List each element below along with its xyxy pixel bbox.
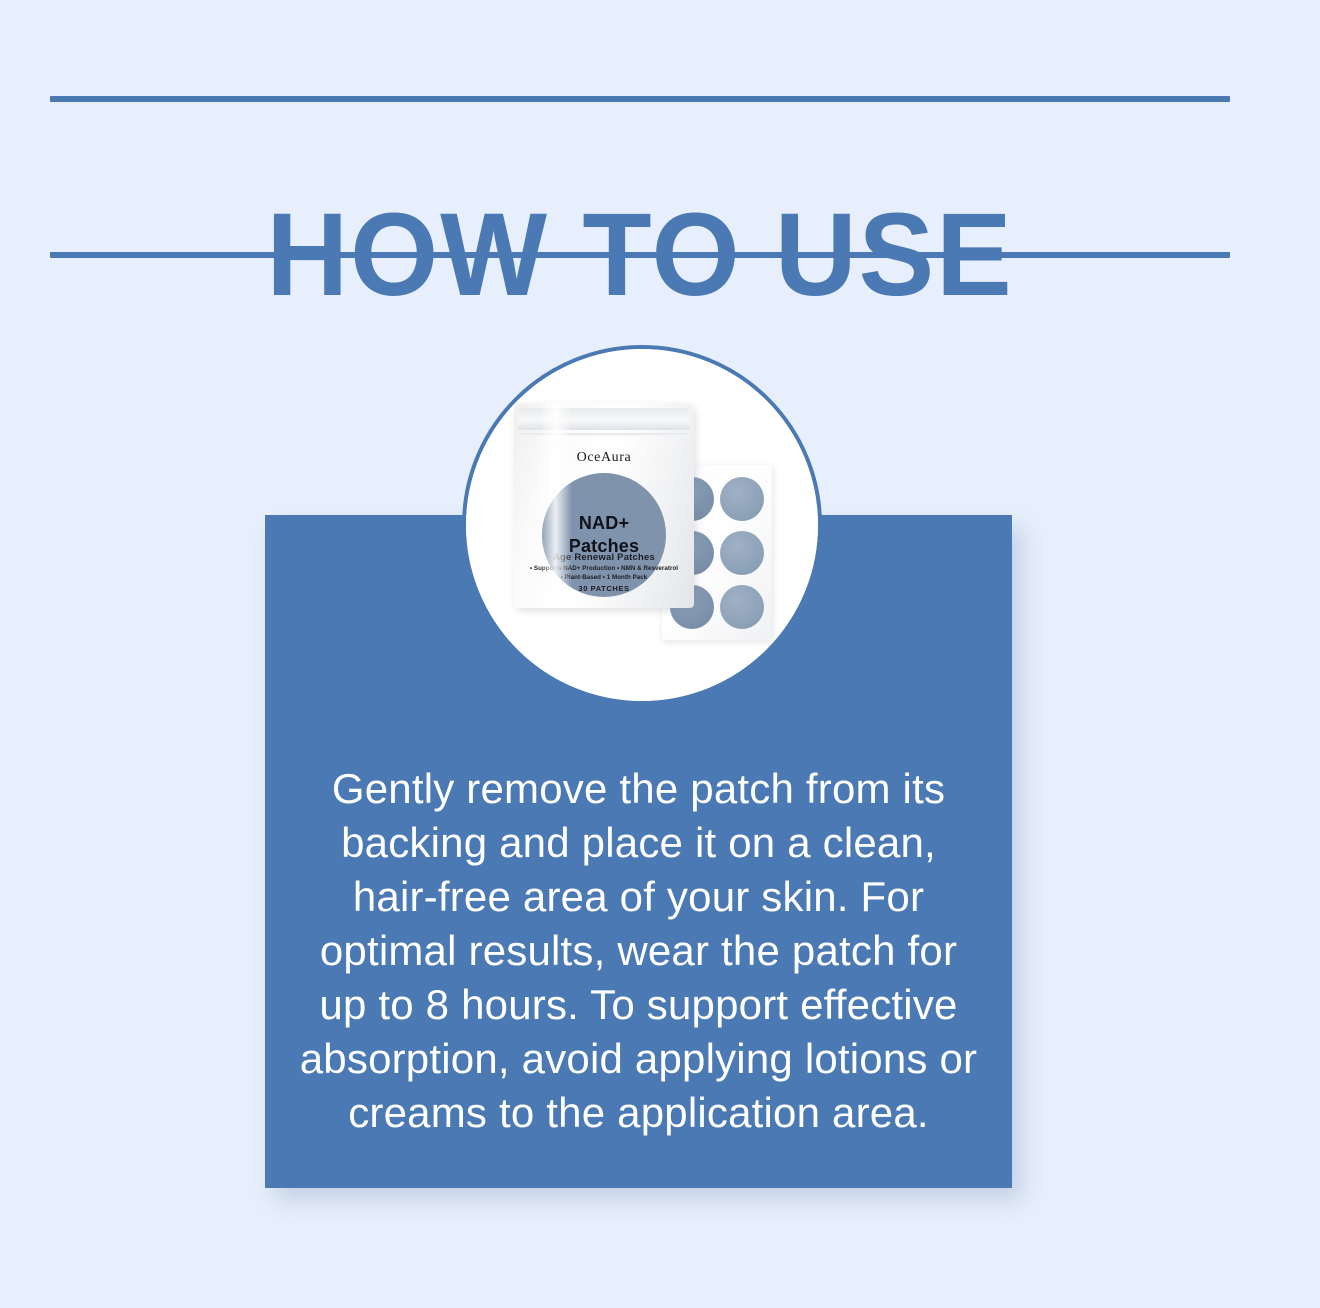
header-bottom-rule — [50, 252, 1230, 258]
pouch-footer: Age Renewal Patches • Supports NAD+ Prod… — [514, 551, 694, 596]
how-to-use-page: HOW TO USE Gently remove the patch from … — [0, 0, 1320, 1308]
patch-dot — [720, 585, 764, 629]
product-label-line-1: NAD+ — [579, 512, 629, 535]
pouch-footer-count: 30 PATCHES — [514, 582, 694, 596]
pouch-footer-heading: Age Renewal Patches — [514, 551, 694, 564]
header-top-rule — [50, 96, 1230, 102]
product-image-circle: OceAura NAD+ Patches Age Renewal Patches… — [462, 345, 822, 705]
product-pouch: OceAura NAD+ Patches Age Renewal Patches… — [514, 403, 694, 608]
header: HOW TO USE — [50, 96, 1230, 258]
instructions-body-text: Gently remove the patch from its backing… — [293, 762, 984, 1140]
patch-dot — [720, 531, 764, 575]
brand-name: OceAura — [514, 450, 694, 466]
pouch-top-seal — [518, 408, 690, 430]
product-photo: OceAura NAD+ Patches Age Renewal Patches… — [466, 349, 818, 701]
pouch-footer-bullets-2: • Plant-Based • 1 Month Pack — [514, 573, 694, 582]
pouch-zipper — [520, 433, 688, 436]
patch-dot — [720, 477, 764, 521]
pouch-footer-bullets-1: • Supports NAD+ Production • NMN & Resve… — [514, 564, 694, 573]
